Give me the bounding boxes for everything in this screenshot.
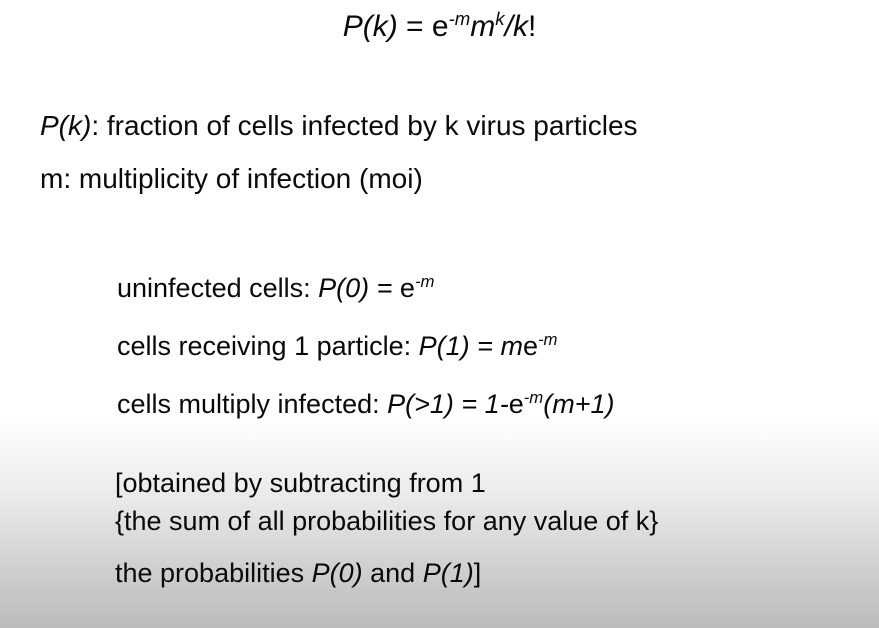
equation-label-multiply-infected: cells multiply infected: [117,389,387,419]
note-line-probabilities-p0-p1: the probabilities P(0) and P(1)] [115,558,481,589]
formula-base-e: e [432,10,449,43]
definition-symbol-m: m [40,163,63,194]
equation-equals: = [369,273,400,303]
equation-label-uninfected: uninfected cells: [117,273,318,303]
formula-base-m: m [470,10,495,43]
equation-base-e: e [400,273,415,303]
definition-separator: : [63,163,79,194]
definition-text-pk: fraction of cells infected by k virus pa… [107,110,638,141]
formula-equals: = [398,10,432,43]
equation-base-e: e [523,331,538,361]
note-line3-closing-bracket: ] [474,558,482,588]
slide-background: P(k) = e-mmk/k! P(k): fraction of cells … [0,0,879,628]
equation-multiply-infected-cells: cells multiply infected: P(>1) = 1-e-m(m… [117,389,615,420]
formula-divider: / [505,10,513,43]
equation-single-particle-cells: cells receiving 1 particle: P(1) = me-m [117,331,557,362]
definition-text-m: multiplicity of infection (moi) [79,163,423,194]
poisson-formula: P(k) = e-mmk/k! [0,10,879,44]
equation-tail-m-plus-1: (m+1) [543,389,614,419]
definition-m: m: multiplicity of infection (moi) [40,163,423,195]
slide-content: P(k) = e-mmk/k! P(k): fraction of cells … [0,0,879,628]
formula-exponent-minus-m: -m [449,8,471,29]
equation-coefficient-m: m [500,331,523,361]
equation-lhs-p-gt-1: P(>1) [387,389,454,419]
note-symbol-p0: P(0) [312,558,363,588]
note-line3-prefix: the probabilities [115,558,312,588]
formula-denominator-k: k [513,10,528,43]
equation-uninfected-cells: uninfected cells: P(0) = e-m [117,273,434,304]
note-symbol-p1: P(1) [423,558,474,588]
formula-factorial: ! [528,10,536,43]
definition-p-of-k: P(k): fraction of cells infected by k vi… [40,110,638,142]
equation-base-e: e [509,389,524,419]
equation-coefficient-one-minus: 1- [485,389,509,419]
equation-lhs-p1: P(1) [419,331,470,361]
equation-exponent-minus-m: -m [415,272,435,291]
equation-equals: = [470,331,501,361]
equation-equals: = [454,389,485,419]
equation-exponent-minus-m: -m [538,330,558,349]
equation-label-single-particle: cells receiving 1 particle: [117,331,419,361]
note-line-obtained-by-subtracting: [obtained by subtracting from 1 [115,468,486,499]
definition-symbol-pk: P(k) [40,110,91,141]
note-line-sum-of-probabilities: {the sum of all probabilities for any va… [115,506,658,537]
equation-lhs-p0: P(0) [318,273,369,303]
note-line3-conjunction: and [363,558,423,588]
definition-separator: : [91,110,107,141]
formula-exponent-k: k [495,8,504,29]
formula-lhs: P(k) [343,10,398,43]
equation-exponent-minus-m: -m [524,388,544,407]
